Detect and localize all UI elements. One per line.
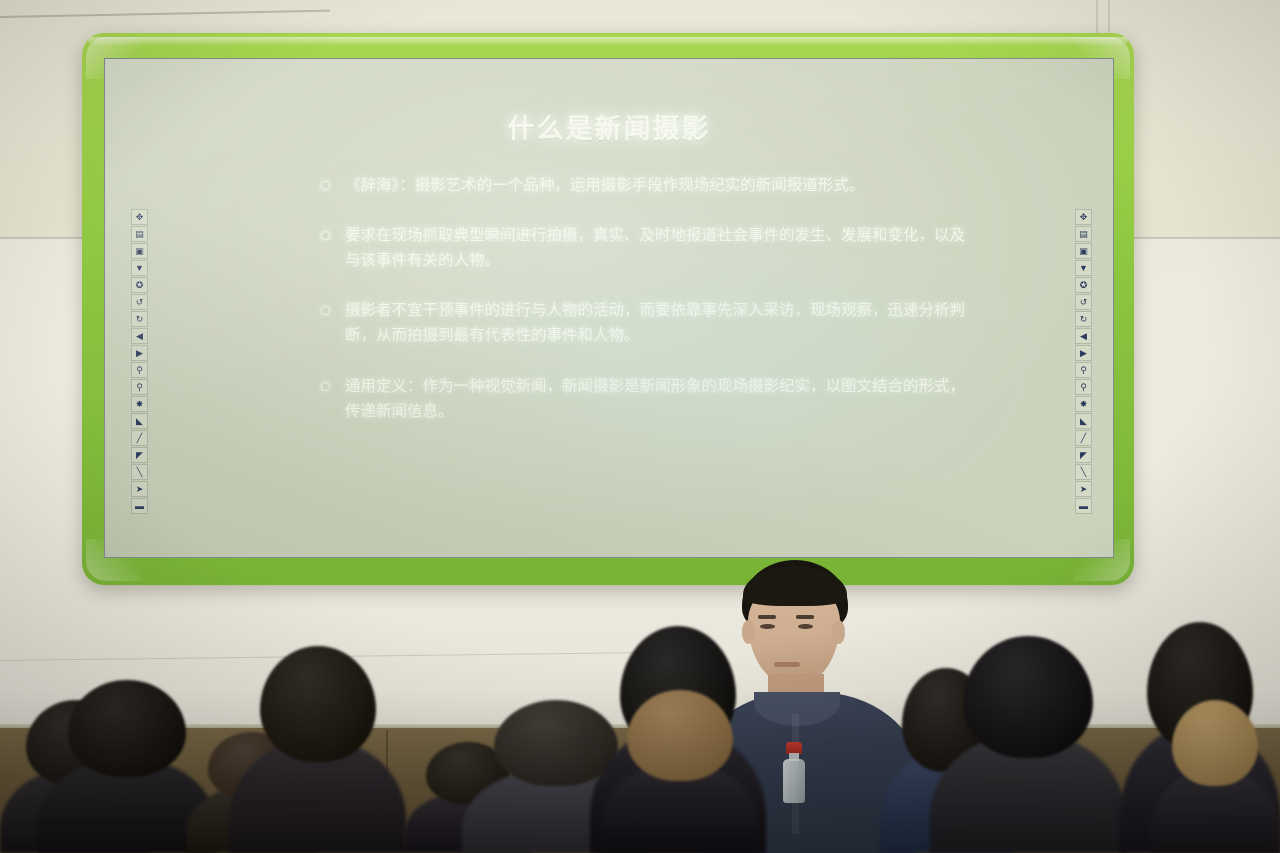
slide-bullet: 摄影者不宜干预事件的进行与人物的活动，而要依靠事先深入采访，现场观察，迅速分析判…: [317, 298, 972, 348]
move-icon[interactable]: ✥: [1075, 209, 1092, 225]
projected-slide: 什么是新闻摄影 《辞海》：摄影艺术的一个品种，运用摄影手段作现场纪实的新闻报道形…: [105, 59, 1113, 557]
align-icon[interactable]: ▤: [131, 226, 148, 242]
redo-icon[interactable]: ↻: [131, 311, 148, 327]
align-icon[interactable]: ▤: [1075, 226, 1092, 242]
zoom-out-icon[interactable]: ⚲: [1075, 379, 1092, 395]
cursor-icon[interactable]: ➤: [131, 481, 148, 497]
bullet-marker-icon: [321, 231, 330, 240]
slide-bullet: 《辞海》：摄影艺术的一个品种，运用摄影手段作现场纪实的新闻报道形式。: [317, 173, 972, 198]
arrow-left-icon[interactable]: ◀: [131, 328, 148, 344]
lecture-hall-photo: 什么是新闻摄影 《辞海》：摄影艺术的一个品种，运用摄影手段作现场纪实的新闻报道形…: [0, 0, 1280, 853]
settings-icon[interactable]: ✪: [1075, 277, 1092, 293]
undo-icon[interactable]: ↺: [131, 294, 148, 310]
highlighter-icon[interactable]: ◤: [1075, 447, 1092, 463]
zoom-out-icon[interactable]: ⚲: [131, 379, 148, 395]
whiteboard-toolbar-left[interactable]: ✥▤▣▼✪↺↻◀▶⚲⚲✸◣╱◤╲➤▬: [131, 209, 149, 514]
save-icon[interactable]: ▼: [1075, 260, 1092, 276]
move-icon[interactable]: ✥: [131, 209, 148, 225]
audience-head: [68, 680, 185, 777]
spotlight-icon[interactable]: ✸: [1075, 396, 1092, 412]
slide-bullet-list: 《辞海》：摄影艺术的一个品种，运用摄影手段作现场纪实的新闻报道形式。 要求在现场…: [317, 173, 972, 449]
new-page-icon[interactable]: ▣: [131, 243, 148, 259]
slide-bullet-text: 通用定义：作为一种视觉新闻，新闻摄影是新闻形象的现场摄影纪实，以图文结合的形式，…: [345, 378, 965, 420]
cursor-icon[interactable]: ➤: [1075, 481, 1092, 497]
presenter-brow-right: [796, 615, 814, 619]
audience-head: [260, 646, 376, 762]
audience-head: [1172, 700, 1258, 786]
presenter-eye-right: [798, 624, 813, 629]
whiteboard-screen[interactable]: 什么是新闻摄影 《辞海》：摄影艺术的一个品种，运用摄影手段作现场纪实的新闻报道形…: [104, 58, 1114, 558]
settings-icon[interactable]: ✪: [131, 277, 148, 293]
presenter-brow-left: [758, 615, 776, 619]
eraser-icon[interactable]: ◣: [1075, 413, 1092, 429]
pen-icon[interactable]: ╱: [1075, 430, 1092, 446]
bullet-marker-icon: [321, 382, 330, 391]
whiteboard-toolbar-right[interactable]: ✥▤▣▼✪↺↻◀▶⚲⚲✸◣╱◤╲➤▬: [1075, 209, 1093, 514]
frame-highlight: [88, 37, 1128, 46]
audience-head: [963, 636, 1092, 758]
audience-head-8: [600, 690, 760, 853]
audience-head-10: [930, 636, 1126, 853]
line-icon[interactable]: ╲: [1075, 464, 1092, 480]
presenter-ear-right: [832, 620, 845, 644]
arrow-right-icon[interactable]: ▶: [131, 345, 148, 361]
audience-head-4: [230, 646, 406, 853]
slide-bullet: 要求在现场抓取典型瞬间进行拍摄，真实、及时地报道社会事件的发生、发展和变化，以及…: [317, 223, 972, 273]
bottle-body: [783, 759, 805, 803]
line-icon[interactable]: ╲: [131, 464, 148, 480]
slide-title: 什么是新闻摄影: [105, 107, 1113, 146]
new-page-icon[interactable]: ▣: [1075, 243, 1092, 259]
presenter-mouth: [774, 662, 800, 667]
slide-bullet: 通用定义：作为一种视觉新闻，新闻摄影是新闻形象的现场摄影纪实，以图文结合的形式，…: [317, 374, 972, 424]
redo-icon[interactable]: ↻: [1075, 311, 1092, 327]
bullet-marker-icon: [321, 306, 330, 315]
keyboard-icon[interactable]: ▬: [1075, 498, 1092, 514]
keyboard-icon[interactable]: ▬: [131, 498, 148, 514]
save-icon[interactable]: ▼: [131, 260, 148, 276]
audience-head: [627, 690, 733, 781]
zoom-in-icon[interactable]: ⚲: [131, 362, 148, 378]
arrow-right-icon[interactable]: ▶: [1075, 345, 1092, 361]
pen-icon[interactable]: ╱: [131, 430, 148, 446]
slide-bullet-text: 要求在现场抓取典型瞬间进行拍摄，真实、及时地报道社会事件的发生、发展和变化，以及…: [345, 227, 965, 269]
undo-icon[interactable]: ↺: [1075, 294, 1092, 310]
highlighter-icon[interactable]: ◤: [131, 447, 148, 463]
audience-head-12: [1150, 700, 1280, 853]
spotlight-icon[interactable]: ✸: [131, 396, 148, 412]
water-bottle: [782, 742, 806, 802]
slide-bullet-text: 摄影者不宜干预事件的进行与人物的活动，而要依靠事先深入采访，现场观察，迅速分析判…: [345, 302, 965, 344]
slide-bullet-text: 《辞海》：摄影艺术的一个品种，运用摄影手段作现场纪实的新闻报道形式。: [345, 177, 864, 194]
bullet-marker-icon: [321, 181, 330, 190]
zoom-in-icon[interactable]: ⚲: [1075, 362, 1092, 378]
eraser-icon[interactable]: ◣: [131, 413, 148, 429]
arrow-left-icon[interactable]: ◀: [1075, 328, 1092, 344]
interactive-whiteboard[interactable]: 什么是新闻摄影 《辞海》：摄影艺术的一个品种，运用摄影手段作现场纪实的新闻报道形…: [82, 33, 1134, 585]
